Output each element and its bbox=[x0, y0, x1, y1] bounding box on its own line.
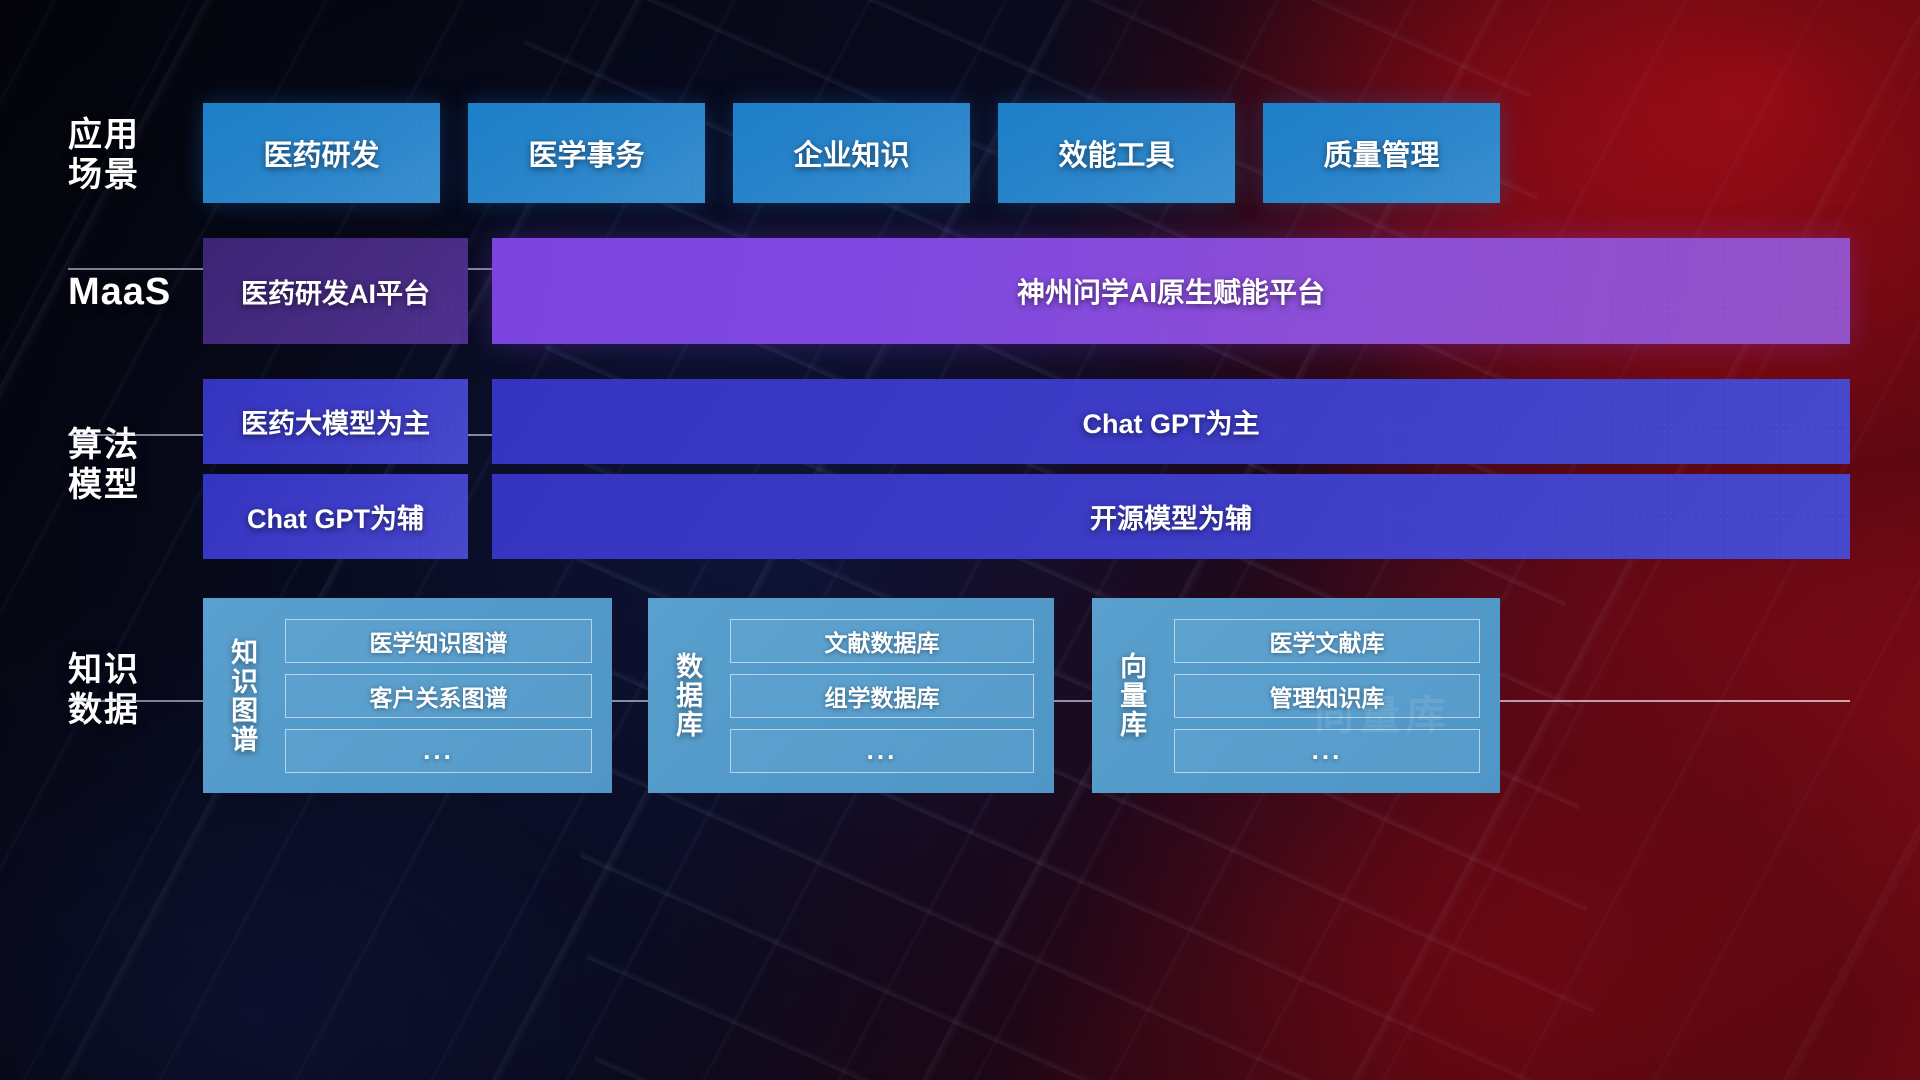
app-card-medical-affairs[interactable]: 医学事务 bbox=[468, 103, 705, 203]
algo-card-label: 医药大模型为主 bbox=[241, 402, 430, 441]
algo-card-label: 开源模型为辅 bbox=[1090, 497, 1252, 536]
row-label-algorithm: 算法 模型 bbox=[68, 425, 198, 505]
knowledge-panel-items: 医学知识图谱 客户关系图谱 ... bbox=[281, 598, 612, 793]
app-card-label: 医药研发 bbox=[263, 132, 379, 174]
row-label-line: 数据 bbox=[68, 690, 198, 730]
maas-card-label: 神州问学AI原生赋能平台 bbox=[1017, 271, 1325, 311]
knowledge-panel-knowledge-graph[interactable]: 知识图谱 医学知识图谱 客户关系图谱 ... bbox=[203, 598, 612, 793]
app-card-label: 医学事务 bbox=[528, 132, 644, 174]
knowledge-item[interactable]: 组学数据库 bbox=[730, 674, 1034, 718]
knowledge-panel-items: 文献数据库 组学数据库 ... bbox=[726, 598, 1054, 793]
knowledge-item[interactable]: 文献数据库 bbox=[730, 619, 1034, 663]
slide-canvas: 应用 场景 MaaS 算法 模型 知识 数据 医药研发 医学事务 企业知识 效能… bbox=[0, 0, 1920, 1080]
app-card-label: 质量管理 bbox=[1323, 132, 1439, 174]
algo-card-pharma-llm-primary[interactable]: 医药大模型为主 bbox=[203, 379, 468, 464]
row-label-line: 应用 bbox=[68, 115, 198, 155]
maas-card-label: 医药研发AI平台 bbox=[241, 272, 430, 311]
knowledge-panel-items: 医学文献库 管理知识库 ... bbox=[1170, 598, 1500, 793]
row-label-line: 场景 bbox=[68, 155, 198, 195]
knowledge-item[interactable]: 医学知识图谱 bbox=[285, 619, 592, 663]
algo-card-label: Chat GPT为主 bbox=[1082, 402, 1259, 441]
app-card-enterprise-knowledge[interactable]: 企业知识 bbox=[733, 103, 970, 203]
algo-card-chatgpt-primary[interactable]: Chat GPT为主 bbox=[492, 379, 1850, 464]
knowledge-item[interactable]: 客户关系图谱 bbox=[285, 674, 592, 718]
knowledge-item[interactable]: 医学文献库 bbox=[1174, 619, 1480, 663]
knowledge-item-more[interactable]: ... bbox=[1174, 729, 1480, 773]
row-label-line: 知识 bbox=[68, 650, 198, 690]
app-card-drug-rnd[interactable]: 医药研发 bbox=[203, 103, 440, 203]
maas-card-drug-rnd-ai-platform[interactable]: 医药研发AI平台 bbox=[203, 238, 468, 344]
knowledge-item[interactable]: 管理知识库 bbox=[1174, 674, 1480, 718]
knowledge-panel-title: 向量库 bbox=[1092, 598, 1170, 793]
app-card-label: 企业知识 bbox=[793, 132, 909, 174]
algo-card-label: Chat GPT为辅 bbox=[247, 497, 424, 536]
row-label-line: 模型 bbox=[68, 465, 198, 505]
row-label-line: 算法 bbox=[68, 425, 198, 465]
knowledge-panel-vector-store[interactable]: 向量库 向量库 医学文献库 管理知识库 ... bbox=[1092, 598, 1500, 793]
app-card-label: 效能工具 bbox=[1058, 132, 1174, 174]
knowledge-panel-title: 知识图谱 bbox=[203, 598, 281, 793]
row-label-maas: MaaS bbox=[68, 270, 198, 315]
knowledge-panel-title: 数据库 bbox=[648, 598, 726, 793]
row-label-line: MaaS bbox=[68, 270, 198, 315]
app-card-quality-management[interactable]: 质量管理 bbox=[1263, 103, 1500, 203]
knowledge-item-more[interactable]: ... bbox=[285, 729, 592, 773]
row-label-knowledge: 知识 数据 bbox=[68, 650, 198, 730]
app-card-efficiency-tools[interactable]: 效能工具 bbox=[998, 103, 1235, 203]
algo-card-opensource-secondary[interactable]: 开源模型为辅 bbox=[492, 474, 1850, 559]
knowledge-panel-database[interactable]: 数据库 文献数据库 组学数据库 ... bbox=[648, 598, 1054, 793]
knowledge-item-more[interactable]: ... bbox=[730, 729, 1034, 773]
row-label-application: 应用 场景 bbox=[68, 115, 198, 195]
algo-card-chatgpt-secondary[interactable]: Chat GPT为辅 bbox=[203, 474, 468, 559]
maas-card-shenzhou-wenxue-platform[interactable]: 神州问学AI原生赋能平台 bbox=[492, 238, 1850, 344]
